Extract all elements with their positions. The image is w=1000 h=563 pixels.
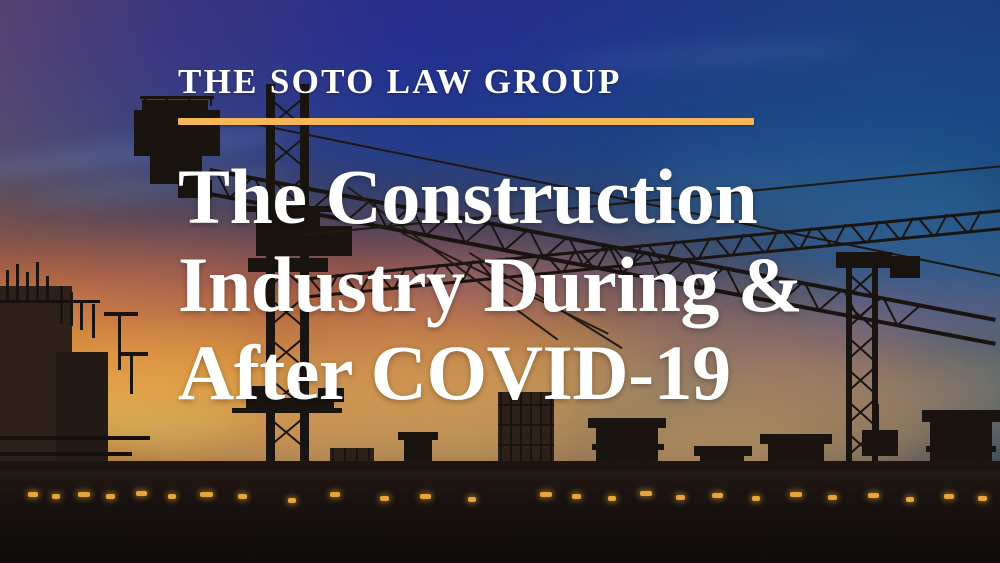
headline-line-2: Industry During & bbox=[178, 241, 918, 329]
headline-line-3: After COVID-19 bbox=[178, 329, 918, 417]
banner-hero: THE SOTO LAW GROUP The Construction Indu… bbox=[0, 0, 1000, 563]
headline-line-1: The Construction bbox=[178, 153, 918, 241]
accent-rule bbox=[178, 118, 754, 125]
brand-name: THE SOTO LAW GROUP bbox=[178, 64, 918, 99]
ground-plane bbox=[0, 471, 1000, 563]
hero-text-block: THE SOTO LAW GROUP The Construction Indu… bbox=[178, 64, 918, 417]
page-title: The Construction Industry During & After… bbox=[178, 153, 918, 417]
